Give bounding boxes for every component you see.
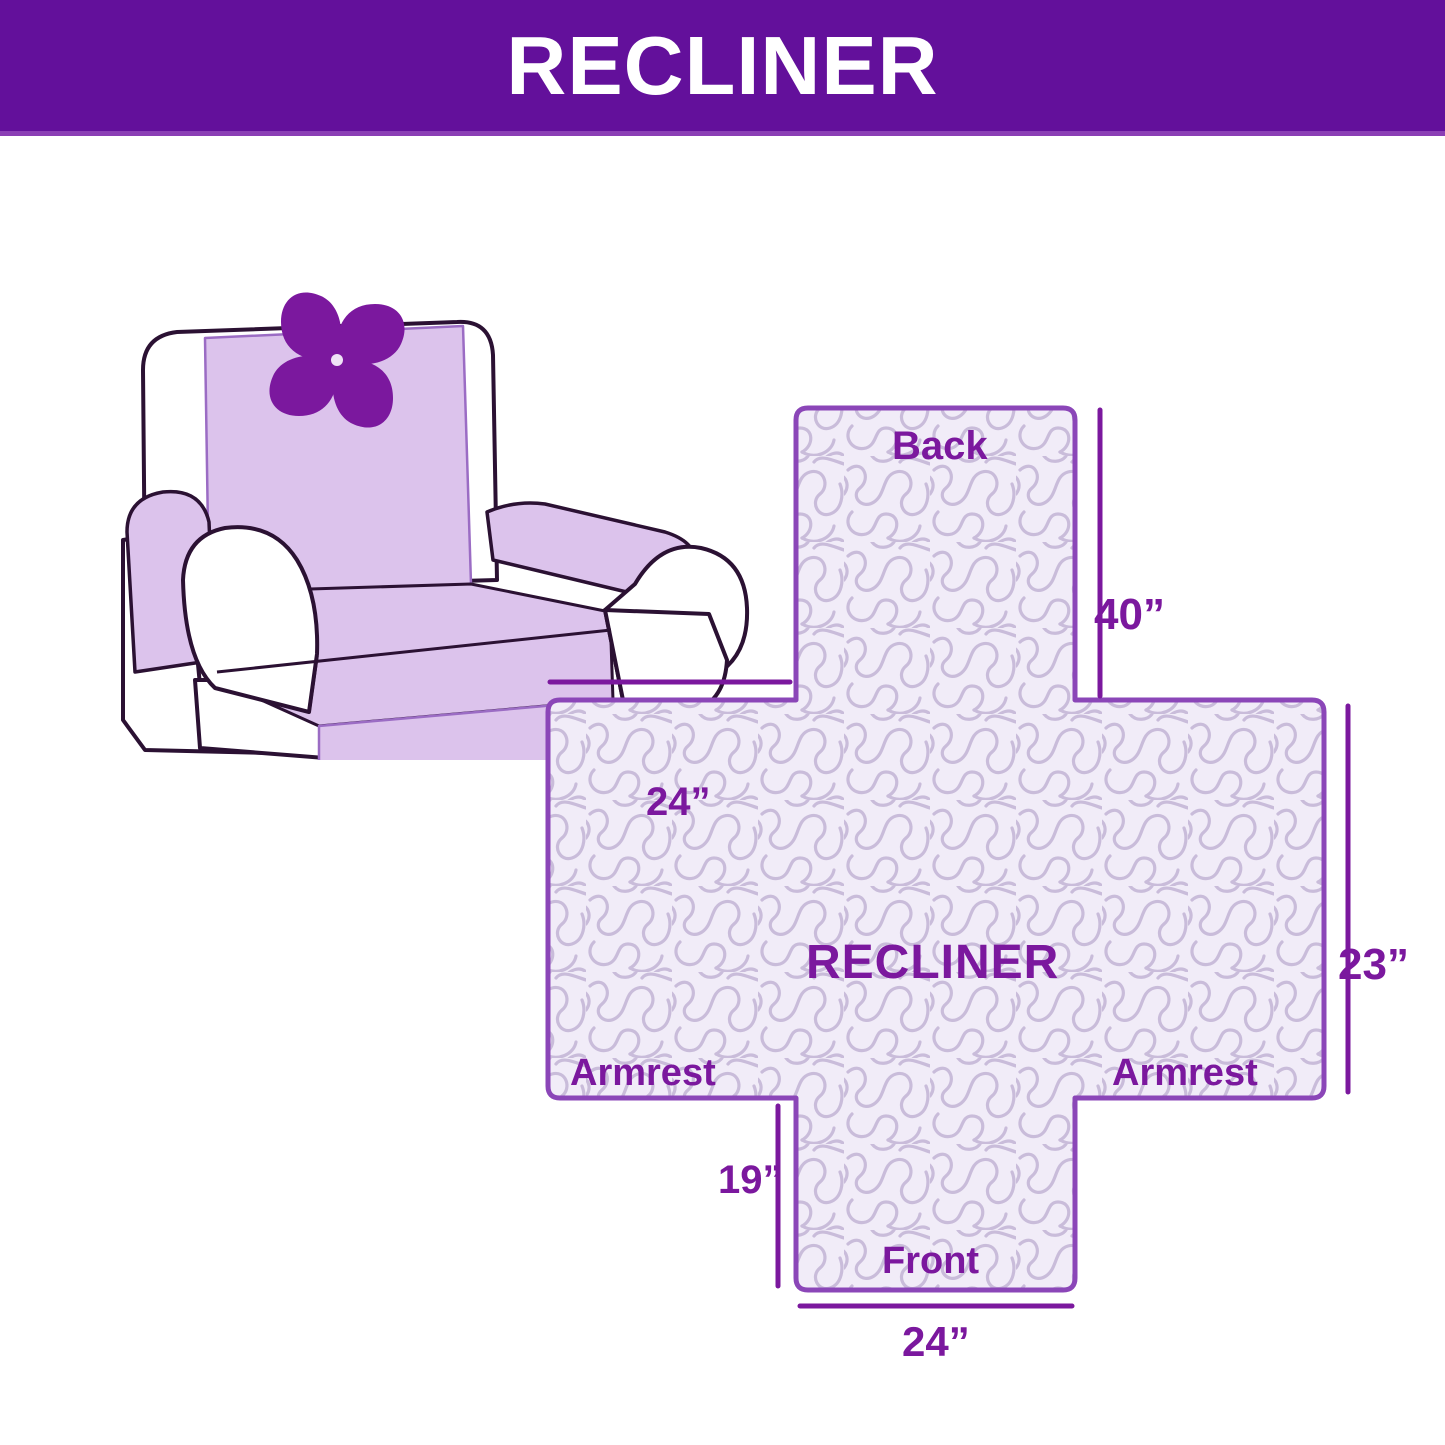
pinwheel-hub-icon: [331, 354, 343, 366]
pattern-label-back: Back: [892, 424, 988, 469]
dimension-label-armrest-width: 24”: [646, 780, 711, 825]
pattern-label-armrest-right: Armrest: [1112, 1052, 1258, 1095]
page-title: RECLINER: [0, 0, 1445, 131]
pattern-label-front: Front: [882, 1240, 979, 1283]
dimension-label-armrest-height: 23”: [1338, 940, 1409, 990]
pattern-label-center-recliner: RECLINER: [806, 935, 1059, 990]
dimension-label-front-height: 19”: [718, 1158, 783, 1203]
recliner-dimension-infographic: RECLINER: [0, 0, 1445, 1445]
dimension-label-back-height: 40”: [1094, 590, 1165, 640]
dimension-label-front-width: 24”: [902, 1318, 970, 1366]
header-banner-underline: [0, 131, 1445, 136]
pattern-label-armrest-left: Armrest: [570, 1052, 716, 1095]
pinwheel-fan-icon: [269, 292, 404, 427]
